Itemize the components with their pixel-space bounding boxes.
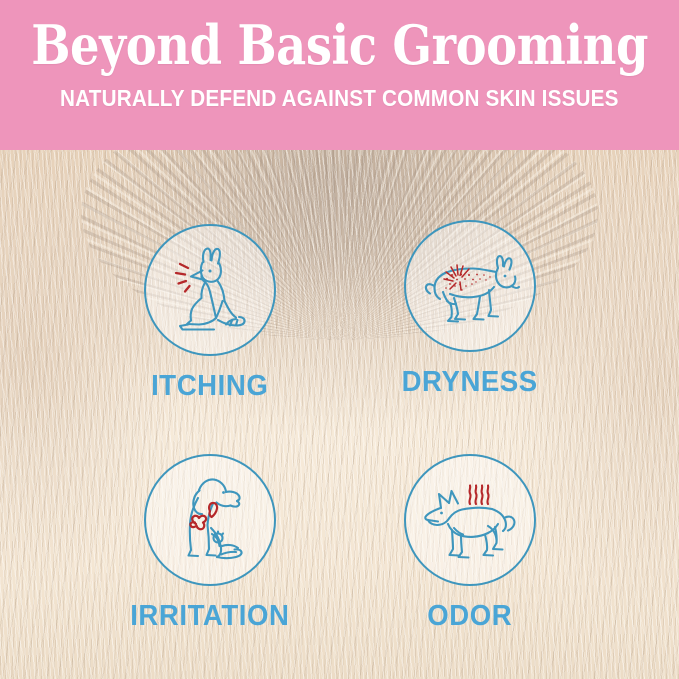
benefit-item-itching: ITCHING xyxy=(75,224,345,402)
benefit-label-irritation: IRRITATION xyxy=(130,600,289,632)
benefit-circle-itching xyxy=(144,224,276,356)
benefit-circle-dryness xyxy=(404,220,536,352)
dog-dry-flaky-skin-icon xyxy=(416,232,524,340)
header-banner: Beyond Basic Grooming NATURALLY DEFEND A… xyxy=(0,0,679,150)
benefit-item-odor: ODOR xyxy=(335,454,605,632)
page-subtitle: NATURALLY DEFEND AGAINST COMMON SKIN ISS… xyxy=(60,84,619,112)
benefit-label-odor: ODOR xyxy=(428,600,513,632)
dog-irritated-patch-icon xyxy=(158,468,262,572)
benefit-circle-irritation xyxy=(144,454,276,586)
benefit-grid: ITCHING xyxy=(0,150,679,679)
benefit-circle-odor xyxy=(404,454,536,586)
benefit-item-irritation: IRRITATION xyxy=(75,454,345,632)
dog-scratching-icon xyxy=(158,238,262,342)
benefit-item-dryness: DRYNESS xyxy=(335,220,605,398)
benefit-label-dryness: DRYNESS xyxy=(402,366,538,398)
page-title: Beyond Basic Grooming xyxy=(31,14,648,76)
dog-odor-icon xyxy=(416,466,524,574)
benefit-label-itching: ITCHING xyxy=(151,370,268,402)
